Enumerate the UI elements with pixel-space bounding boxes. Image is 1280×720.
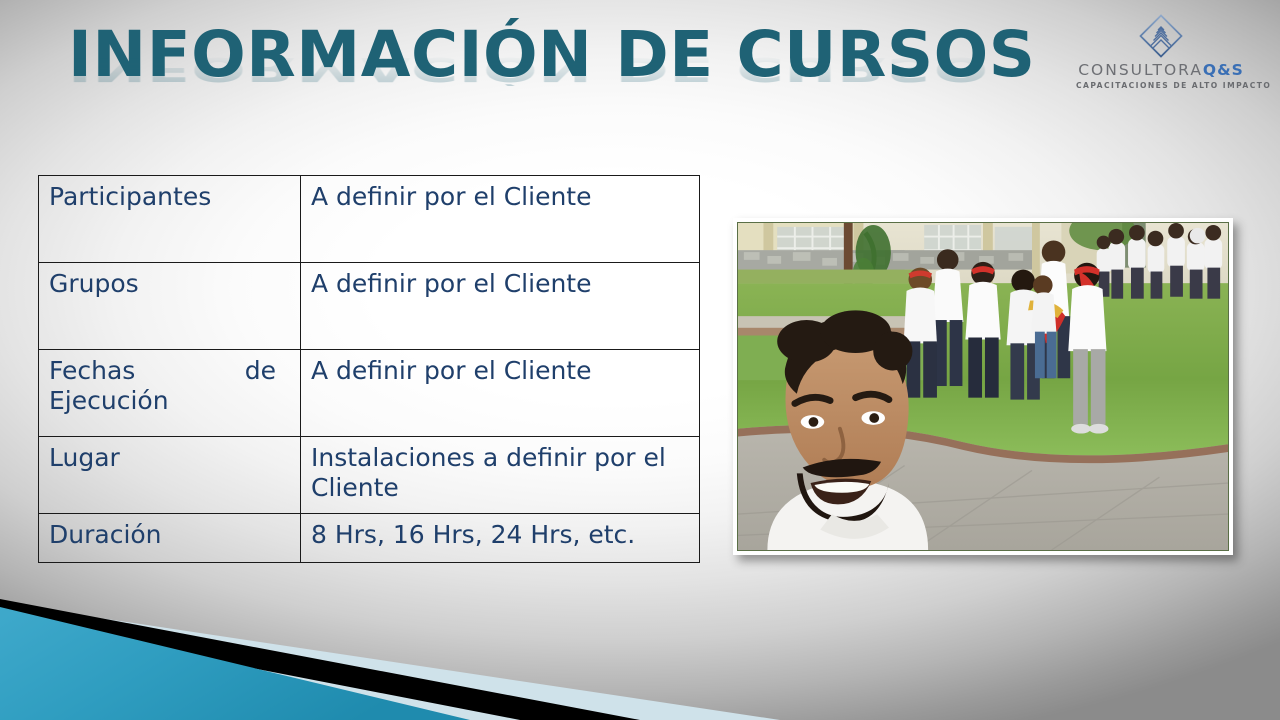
diamond-chevron-icon	[1137, 12, 1185, 60]
logo-wordmark-accent: Q&S	[1203, 61, 1244, 79]
table-row: Participantes A definir por el Cliente	[39, 176, 700, 263]
deco-triangle-teal	[0, 607, 470, 720]
deco-band-light	[0, 603, 1280, 720]
logo-tagline: CAPACITACIONES DE ALTO IMPACTO	[1076, 80, 1246, 91]
table-cell-value: Instalaciones a definir por el Cliente	[301, 437, 700, 514]
logo-wordmark: CONSULTORAQ&S	[1076, 61, 1246, 79]
table-cell-label: Grupos	[39, 263, 301, 350]
table-cell-value: 8 Hrs, 16 Hrs, 24 Hrs, etc.	[301, 514, 700, 563]
table-cell-label: Duración	[39, 514, 301, 563]
course-info-table: Participantes A definir por el Cliente G…	[38, 175, 700, 563]
photo-illustration	[738, 223, 1228, 550]
deco-band-black	[0, 599, 640, 720]
logo-wordmark-primary: CONSULTORA	[1078, 61, 1203, 79]
table-row: Duración 8 Hrs, 16 Hrs, 24 Hrs, etc.	[39, 514, 700, 563]
table-cell-value: A definir por el Cliente	[301, 350, 700, 437]
slide-canvas: INFORMACIÓN DE CURSOS INFORMACIÓN DE CUR…	[0, 0, 1280, 720]
table-cell-value: A definir por el Cliente	[301, 176, 700, 263]
table-cell-label: Fechas de Ejecución	[39, 350, 301, 437]
table-cell-label: Lugar	[39, 437, 301, 514]
title-block: INFORMACIÓN DE CURSOS INFORMACIÓN DE CUR…	[68, 22, 968, 120]
table-row: Fechas de Ejecución A definir por el Cli…	[39, 350, 700, 437]
brand-logo: CONSULTORAQ&S CAPACITACIONES DE ALTO IMP…	[1076, 12, 1246, 104]
photo-frame	[733, 218, 1233, 555]
table-cell-value: A definir por el Cliente	[301, 263, 700, 350]
team-building-photo	[737, 222, 1229, 551]
page-title-reflection: INFORMACIÓN DE CURSOS	[68, 52, 986, 86]
corner-decoration	[0, 585, 1280, 720]
table-cell-label: Participantes	[39, 176, 301, 263]
table-row: Grupos A definir por el Cliente	[39, 263, 700, 350]
table-row: Lugar Instalaciones a definir por el Cli…	[39, 437, 700, 514]
foreground-person	[767, 310, 928, 550]
